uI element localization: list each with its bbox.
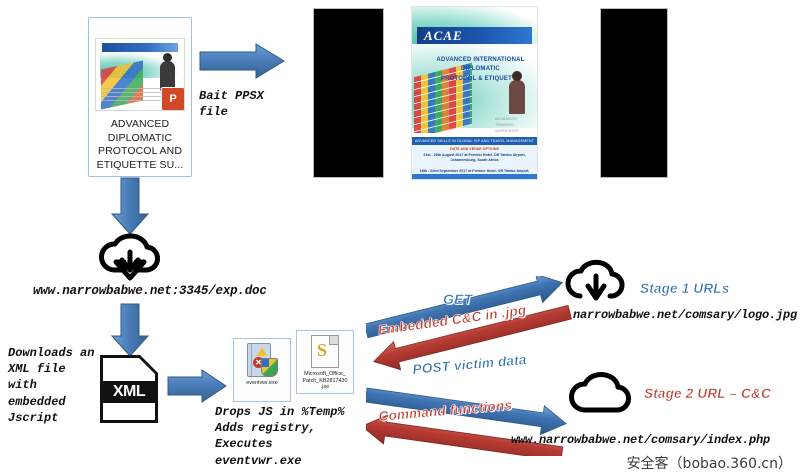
flow-label-get: GET (443, 291, 472, 307)
stage2-url: www.narrowbabwe.net/comsary/index.php (511, 432, 770, 448)
poster-strapline-bar: ADVANCED SKILLS IN GLOBAL VIP AND TRAVEL… (412, 137, 537, 145)
stage1-url: narrowbabwe.net/comsary/logo.jpg (573, 307, 797, 323)
bait-arrow-label: Bait PPSX file (199, 88, 264, 120)
stage2-badge: Stage 2 URL – C&C (644, 386, 771, 401)
arrow-bait-to-cloud-download (110, 176, 152, 238)
watermark: 安全客（bobao.360.cn） (627, 453, 792, 473)
bait-poster-preview: ACAE ADVANCED INTERNATIONAL DIPLOMATIC P… (411, 6, 538, 180)
xml-label-band: XML (103, 381, 155, 403)
warning-triangle-icon (257, 347, 267, 356)
arrow-xml-to-dropper (166, 368, 228, 404)
stage1-badge: Stage 1 URLs (640, 281, 729, 296)
poster-dates-heading: DATE AND VENUE OPTIONS (412, 147, 537, 151)
poster-presenter (509, 80, 525, 114)
arrow-url-to-xml (110, 302, 152, 360)
poster-body: ADVANCED INTERNATIONAL DIPLOMATIC PROTOC… (412, 44, 537, 133)
jse-caption: Microsoft_Office_ Patch_KB2817430 .jse (303, 371, 348, 391)
arrow-bait-to-poster (198, 42, 288, 82)
stage2-cloud-icon (568, 370, 640, 418)
script-s-glyph: S (317, 340, 327, 360)
bait-file-label: ADVANCED DIPLOMATIC PROTOCOL AND ETIQUET… (95, 118, 185, 172)
diagram-canvas: P ADVANCED DIPLOMATIC PROTOCOL AND ETIQU… (0, 0, 800, 475)
jse-file-icon[interactable]: S Microsoft_Office_ Patch_KB2817430 .jse (296, 330, 354, 394)
poster-strapline: ADVANCED SKILLS IN GLOBAL VIP AND TRAVEL… (412, 137, 537, 145)
poster-footer-bar (412, 174, 537, 179)
poster-brand: ACAE (424, 28, 463, 44)
xml-label: XML (103, 381, 155, 403)
eventvwr-shield-icon: ✕ (247, 343, 277, 377)
xml-file-icon: XML (100, 355, 158, 423)
bait-thumbnail: P (95, 38, 185, 111)
eventvwr-file-icon[interactable]: ✕ eventvwr.exe (233, 338, 291, 402)
dropper-note: Drops JS in %Temp% Adds registry, Execut… (215, 404, 345, 469)
bait-file-card[interactable]: P ADVANCED DIPLOMATIC PROTOCOL AND ETIQU… (88, 17, 192, 177)
thumbnail-header-band (102, 43, 178, 52)
script-file-icon: S (311, 335, 339, 368)
xml-download-note: Downloads an XML file with embedded Jscr… (8, 345, 94, 426)
powerpoint-badge-icon: P (161, 87, 185, 111)
stage0-url: www.narrowbabwe.net:3345/exp.doc (33, 283, 267, 300)
uac-shield-icon (261, 358, 278, 377)
poster-subtitle: ADVANCED TRAINING WORKSHOP (495, 116, 533, 133)
eventvwr-caption: eventvwr.exe (246, 380, 277, 387)
redaction-bar-left (313, 8, 384, 178)
stage1-cloud-download-icon (563, 258, 629, 308)
redaction-bar-right (600, 8, 668, 178)
poster-dates-block: DATE AND VENUE OPTIONS 21st - 25th Augus… (412, 145, 537, 174)
cloud-download-icon (96, 230, 166, 282)
